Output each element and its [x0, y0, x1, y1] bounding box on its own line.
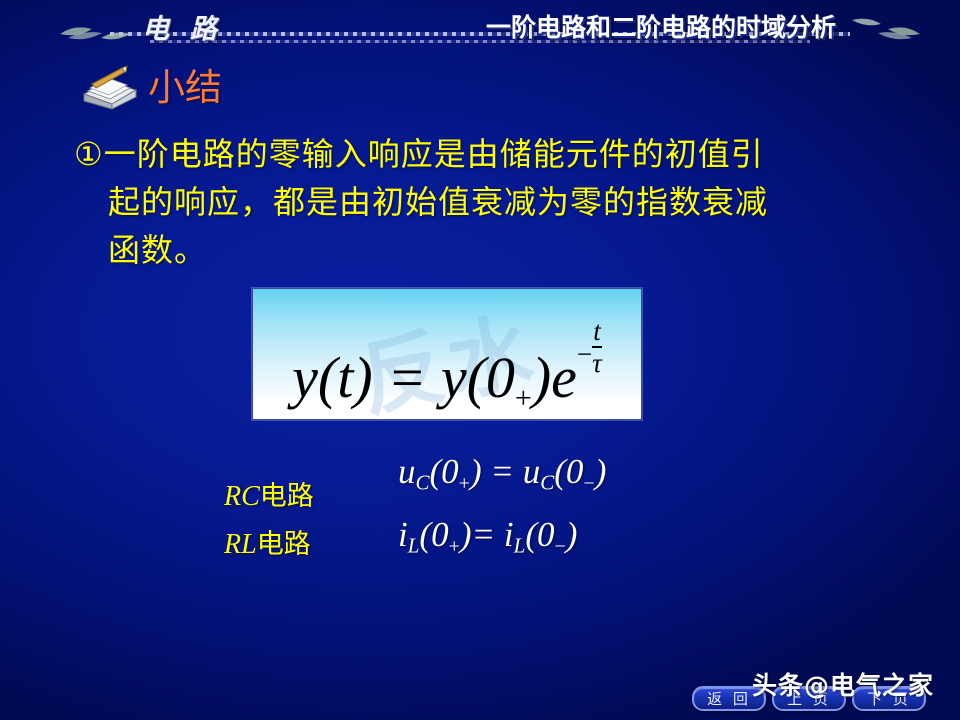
uc-rhs-arg-open: (0 — [554, 452, 583, 491]
rc-circuit-label: RC电路 — [224, 474, 314, 513]
formula-exponent-minus: − — [577, 341, 592, 368]
formula-equals: = — [387, 345, 426, 410]
zero-input-response-formula: y(t) = y(0+)e−tτ — [253, 317, 641, 413]
formula-exponent-denominator: τ — [592, 349, 602, 377]
notebook-pencil-icon — [78, 64, 140, 110]
il-rhs-var: i — [504, 515, 514, 554]
uc-rhs-subscript: C — [540, 470, 554, 494]
slide-canvas: 电 路 一阶电路和二阶电路的时域分析 小结 ①一阶电路的零输入响应是由储能元件的… — [0, 0, 960, 720]
il-lhs-var: i — [398, 515, 408, 554]
uc-rhs-arg-sign: − — [583, 472, 594, 494]
uc-lhs-arg-close: ) — [470, 452, 482, 491]
paragraph-line-3: 函数。 — [74, 226, 914, 274]
leaf-ornament-icon-right-secondary — [836, 14, 882, 30]
rl-circuit-rom: RL — [224, 529, 257, 560]
formula-lhs-y: y — [292, 345, 318, 410]
formula-exponential-e: e — [551, 345, 577, 410]
uc-rhs-arg-close: ) — [595, 452, 607, 491]
capacitor-voltage-continuity-equation: uC(0+) = uC(0−) — [398, 452, 606, 495]
formula-rhs-paren-close: ) — [532, 345, 551, 410]
il-rhs-subscript: L — [514, 533, 526, 557]
uc-lhs-arg-open: (0 — [430, 452, 459, 491]
summary-paragraph: ①一阶电路的零输入响应是由储能元件的初值引 起的响应，都是由初始值衰减为零的指数… — [74, 130, 914, 274]
uc-lhs-arg-sign: + — [459, 472, 470, 494]
paragraph-line-1: ①一阶电路的零输入响应是由储能元件的初值引 — [74, 130, 914, 178]
il-lhs-subscript: L — [408, 533, 420, 557]
uc-lhs-var: u — [398, 452, 416, 491]
uc-lhs-subscript: C — [416, 470, 430, 494]
il-lhs-arg-open: (0 — [419, 515, 448, 554]
slide-header: 电 路 一阶电路和二阶电路的时域分析 — [0, 0, 960, 52]
rc-circuit-rom: RC — [224, 481, 260, 512]
formula-lhs-paren-close: ) — [353, 345, 372, 410]
summary-label: 小结 — [148, 69, 222, 106]
formula-lhs-var: t — [337, 345, 353, 410]
il-rhs-arg-open: (0 — [525, 515, 554, 554]
course-logo: 电 路 — [128, 6, 238, 46]
formula-rhs-paren-open: ( — [467, 345, 486, 410]
rc-circuit-cjk: 电路 — [260, 481, 314, 512]
inductor-current-continuity-equation: iL(0+)= iL(0−) — [398, 515, 577, 558]
formula-lhs-paren-open: ( — [318, 345, 337, 410]
il-equals: = — [472, 515, 496, 554]
uc-equals: = — [490, 452, 514, 491]
page-watermark: 头条@电气之家 — [752, 666, 934, 702]
leaf-ornament-icon-right — [862, 20, 922, 42]
formula-exponent-fraction: tτ — [592, 317, 602, 378]
il-rhs-arg-close: ) — [566, 515, 578, 554]
il-rhs-arg-sign: − — [554, 535, 565, 557]
uc-rhs-var: u — [523, 452, 541, 491]
paragraph-line-2: 起的响应，都是由初始值衰减为零的指数衰减 — [74, 178, 914, 226]
rl-circuit-label: RL电路 — [224, 522, 311, 561]
il-lhs-arg-close: ) — [460, 515, 472, 554]
formula-box: 反水 y(t) = y(0+)e−tτ — [252, 288, 642, 420]
formula-exponent-numerator: t — [592, 317, 602, 345]
il-lhs-arg-sign: + — [449, 535, 460, 557]
slide-header-title: 一阶电路和二阶电路的时域分析 — [486, 8, 836, 44]
rl-circuit-cjk: 电路 — [257, 529, 311, 560]
summary-heading: 小结 — [78, 64, 222, 110]
leaf-ornament-icon — [58, 20, 118, 42]
formula-rhs-y: y — [441, 345, 467, 410]
formula-rhs-subscript-plus: + — [515, 381, 532, 414]
formula-rhs-zero: 0 — [486, 345, 515, 410]
